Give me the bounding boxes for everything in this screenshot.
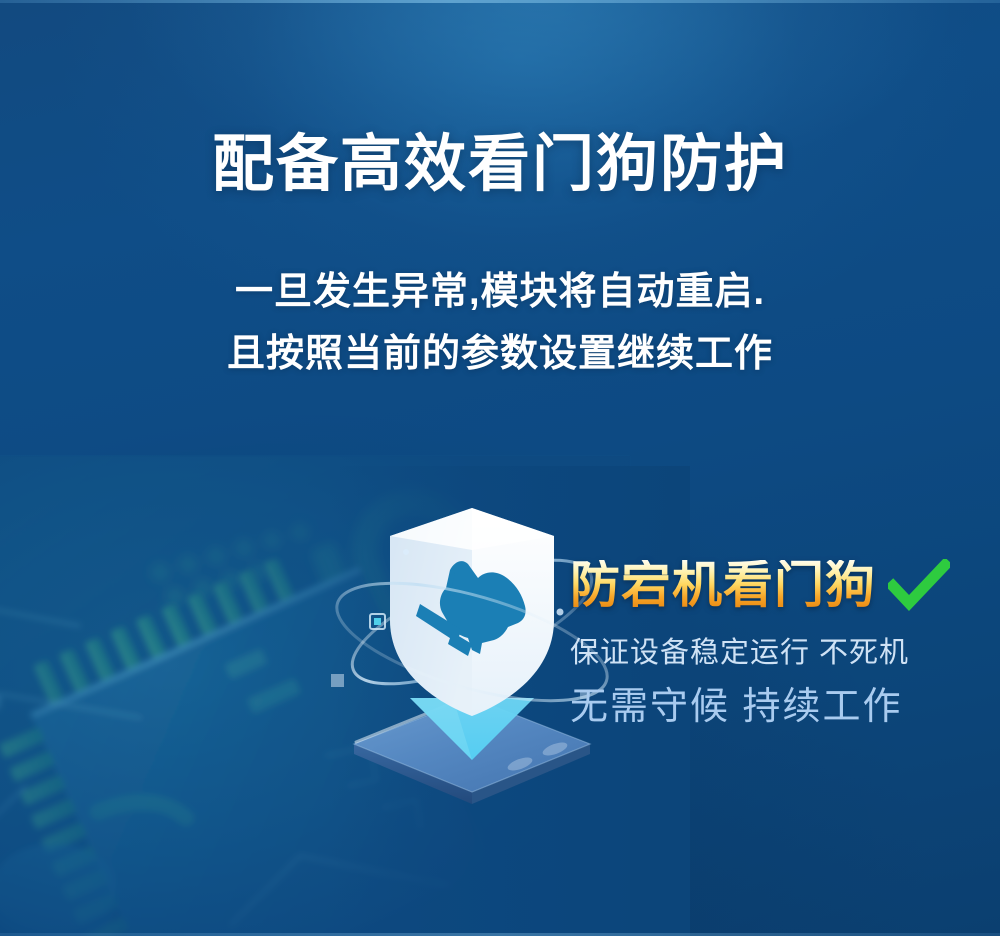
gold-heading: 防宕机看门狗 (570, 560, 876, 610)
subtitle-line-2: 且按照当前的参数设置继续工作 (0, 324, 1000, 386)
top-edge-line (0, 0, 1000, 3)
feature-block: 防宕机看门狗 保证设备稳定运行 不死机 无需守候 持续工作 (570, 552, 970, 730)
page-title: 配备高效看门狗防护 (0, 132, 1000, 197)
gold-heading-row: 防宕机看门狗 (570, 552, 970, 618)
headline-block: 配备高效看门狗防护 (0, 132, 1000, 197)
subtitle-block: 一旦发生异常,模块将自动重启. 且按照当前的参数设置继续工作 (0, 262, 1000, 385)
green-check-icon (888, 559, 950, 611)
feature-line-1: 保证设备稳定运行 不死机 (570, 636, 970, 671)
promo-banner: 配备高效看门狗防护 一旦发生异常,模块将自动重启. 且按照当前的参数设置继续工作 (0, 0, 1000, 936)
subtitle-line-1: 一旦发生异常,模块将自动重启. (0, 262, 1000, 324)
feature-line-2: 无需守候 持续工作 (570, 685, 970, 731)
